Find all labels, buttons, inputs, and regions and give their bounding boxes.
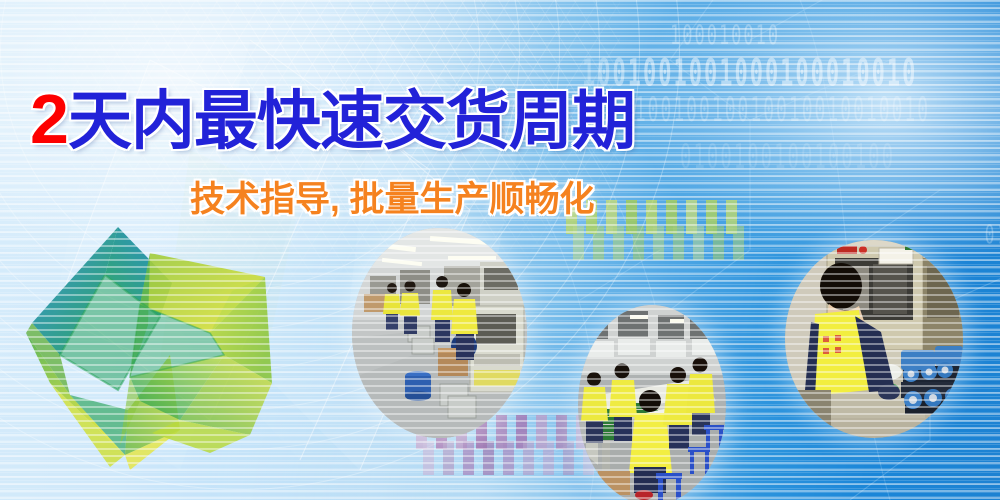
scanline-overlay [0, 0, 1000, 500]
promotional-banner: 100010010 1001001001000100010010 0100100… [0, 0, 1000, 500]
subtitle: 技术指导, 批量生产顺畅化 [190, 171, 594, 222]
headline-text: 天内最快速交货周期 [68, 85, 635, 157]
headline-number: 2 [30, 80, 68, 158]
headline: 2天内最快速交货周期 [30, 84, 635, 154]
